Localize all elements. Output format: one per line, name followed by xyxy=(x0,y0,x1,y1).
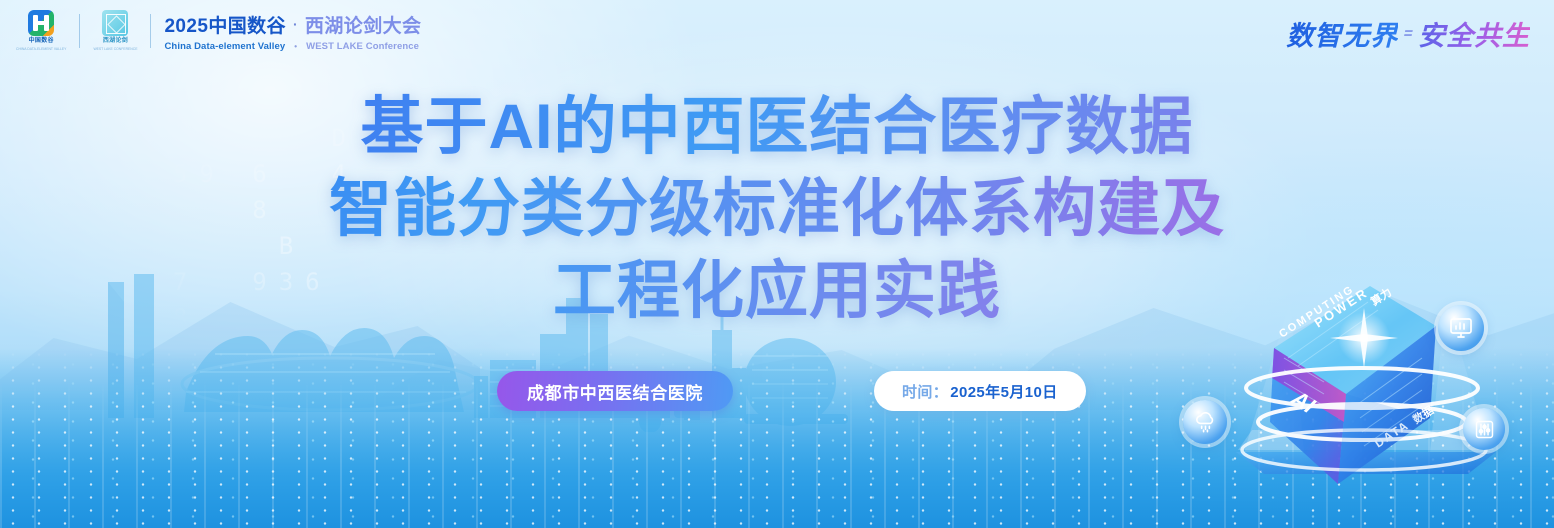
header-divider xyxy=(79,14,80,48)
equalizer-sliders-icon xyxy=(1473,418,1496,441)
orb-equalizer xyxy=(1463,408,1505,450)
cloud-data-icon xyxy=(1193,410,1218,435)
conference-titles: 2025中国数谷 · 西湖论剑大会 China Data-element Val… xyxy=(164,11,421,52)
background-digits: E D 59 6 4 7 8 B 7 936 B8 A 2 5 xyxy=(120,120,680,380)
date-label: 时间： xyxy=(902,381,948,402)
title-separator-dot: · xyxy=(293,16,298,32)
title-line-2: 智能分类分级标准化体系构建及 xyxy=(0,168,1554,250)
china-data-valley-logo-icon xyxy=(28,10,54,36)
organization-badge: 成都市中西医结合医院 xyxy=(497,371,733,411)
data-cube-illustration: COMPUTING POWER 算力 AI DATA 数据 xyxy=(1178,262,1554,528)
logo-china-data-valley: 中国数谷 CHINA DATA-ELEMENT VALLEY xyxy=(16,10,66,52)
date-badge: 时间： 2025年5月10日 xyxy=(874,371,1086,411)
conference-title-en-primary: China Data-element Valley xyxy=(164,41,285,52)
conference-title-cn: 2025中国数谷 · 西湖论剑大会 xyxy=(164,11,421,38)
slogan-part-a: 数智无界 xyxy=(1286,14,1398,53)
orb-cloud-data xyxy=(1183,400,1227,444)
glow-top-left xyxy=(0,0,720,400)
logo-caption-west-lake: 西湖论剑 xyxy=(103,38,128,45)
header-divider-2 xyxy=(150,14,151,48)
conference-title-cn-primary: 2025中国数谷 xyxy=(164,11,285,38)
conference-title-en-secondary: WEST LAKE Conference xyxy=(306,41,419,52)
conference-slogan: 数智无界 = 安全共生 xyxy=(1286,14,1530,53)
orb-monitor-chart xyxy=(1438,305,1484,351)
title-en-separator-dot: • xyxy=(294,42,297,51)
conference-title-cn-secondary: 西湖论剑大会 xyxy=(305,11,421,38)
conference-banner: E D 59 6 4 7 8 B 7 936 B8 A 2 5 xyxy=(0,0,1554,528)
logo-west-lake: 西湖论剑 WEST LAKE CONFERENCE xyxy=(93,10,137,52)
slogan-part-b: 安全共生 xyxy=(1418,14,1530,53)
west-lake-diamond-logo-icon xyxy=(102,10,128,36)
date-value: 2025年5月10日 xyxy=(950,381,1057,402)
logo-caption-china-data-valley: 中国数谷 xyxy=(29,38,54,45)
title-line-1: 基于AI的中西医结合医疗数据 xyxy=(0,86,1554,168)
logo-subcaption-china-data-valley: CHINA DATA-ELEMENT VALLEY xyxy=(16,47,66,52)
organization-label: 成都市中西医结合医院 xyxy=(527,379,703,404)
slogan-equals: = xyxy=(1402,25,1413,42)
conference-title-en: China Data-element Valley • WEST LAKE Co… xyxy=(164,41,421,52)
monitor-bar-chart-icon xyxy=(1448,315,1474,341)
logo-subcaption-west-lake: WEST LAKE CONFERENCE xyxy=(93,47,137,52)
banner-header: 中国数谷 CHINA DATA-ELEMENT VALLEY 西湖论剑 WEST… xyxy=(16,10,421,52)
